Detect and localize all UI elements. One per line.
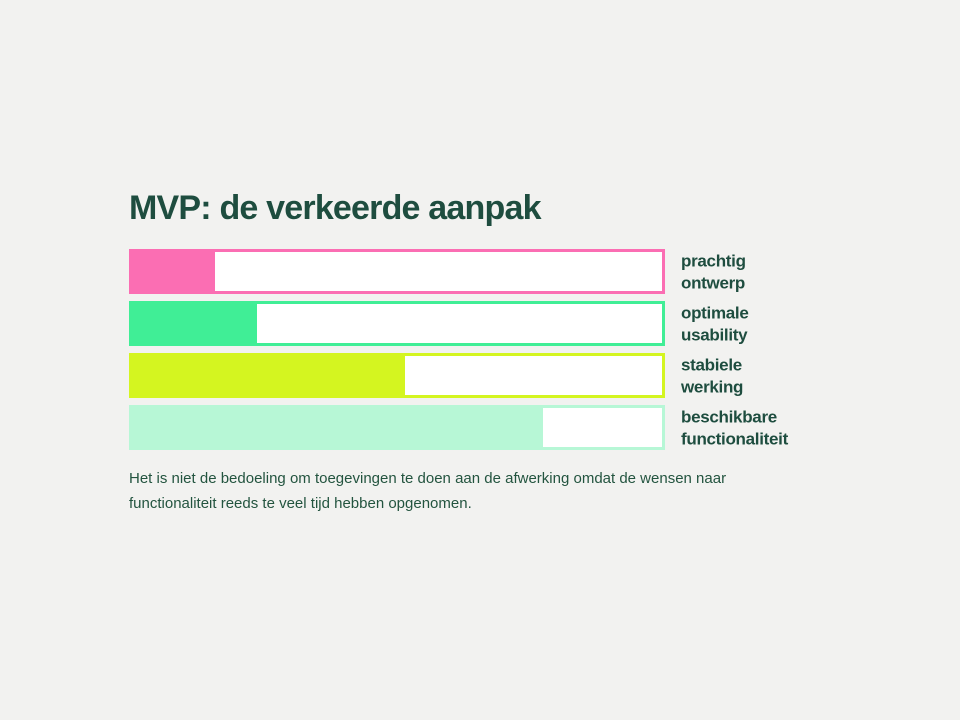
slide-canvas: MVP: de verkeerde aanpak prachtig ontwer… bbox=[0, 0, 960, 720]
bar-fill-beschikbare-functionaliteit bbox=[129, 405, 543, 450]
bar-label-optimale-usability: optimale usability bbox=[681, 302, 911, 346]
bar-row: optimale usability bbox=[129, 301, 665, 346]
bar-row: prachtig ontwerp bbox=[129, 249, 665, 294]
bar-fill-prachtig-ontwerp bbox=[129, 249, 215, 294]
bar-row: stabiele werking bbox=[129, 353, 665, 398]
bar-label-prachtig-ontwerp: prachtig ontwerp bbox=[681, 250, 911, 294]
slide-content: MVP: de verkeerde aanpak prachtig ontwer… bbox=[129, 190, 849, 532]
bar-fill-optimale-usability bbox=[129, 301, 257, 346]
slide-caption: Het is niet de bedoeling om toegevingen … bbox=[129, 467, 809, 517]
bar-row: beschikbare functionaliteit bbox=[129, 405, 665, 450]
bar-track-stabiele-werking bbox=[129, 353, 665, 398]
bar-track-beschikbare-functionaliteit bbox=[129, 405, 665, 450]
bar-label-beschikbare-functionaliteit: beschikbare functionaliteit bbox=[681, 406, 911, 450]
page-title: MVP: de verkeerde aanpak bbox=[129, 190, 849, 227]
bar-track-prachtig-ontwerp bbox=[129, 249, 665, 294]
bar-track-optimale-usability bbox=[129, 301, 665, 346]
bar-fill-stabiele-werking bbox=[129, 353, 405, 398]
bar-chart: prachtig ontwerp optimale usability stab… bbox=[129, 249, 665, 450]
bar-label-stabiele-werking: stabiele werking bbox=[681, 354, 911, 398]
